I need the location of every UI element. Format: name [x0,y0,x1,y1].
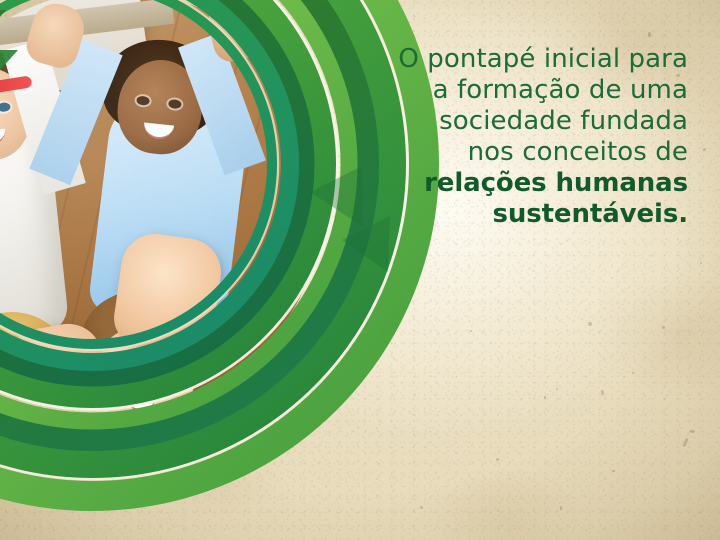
headline-line-2: a formação de uma [398,75,688,106]
headline-line-1: O pontapé inicial para [398,44,688,75]
circular-artwork [0,0,442,514]
presentation-slide: O pontapé inicial para a formação de uma… [0,0,720,540]
headline-line-6: sustentáveis. [398,199,688,230]
green-ring-arrows [0,0,442,514]
headline-text-block: O pontapé inicial para a formação de uma… [398,44,688,230]
headline-line-3: sociedade fundada [398,106,688,137]
headline-line-4: nos conceitos de [398,137,688,168]
headline-line-5: relações humanas [398,168,688,199]
